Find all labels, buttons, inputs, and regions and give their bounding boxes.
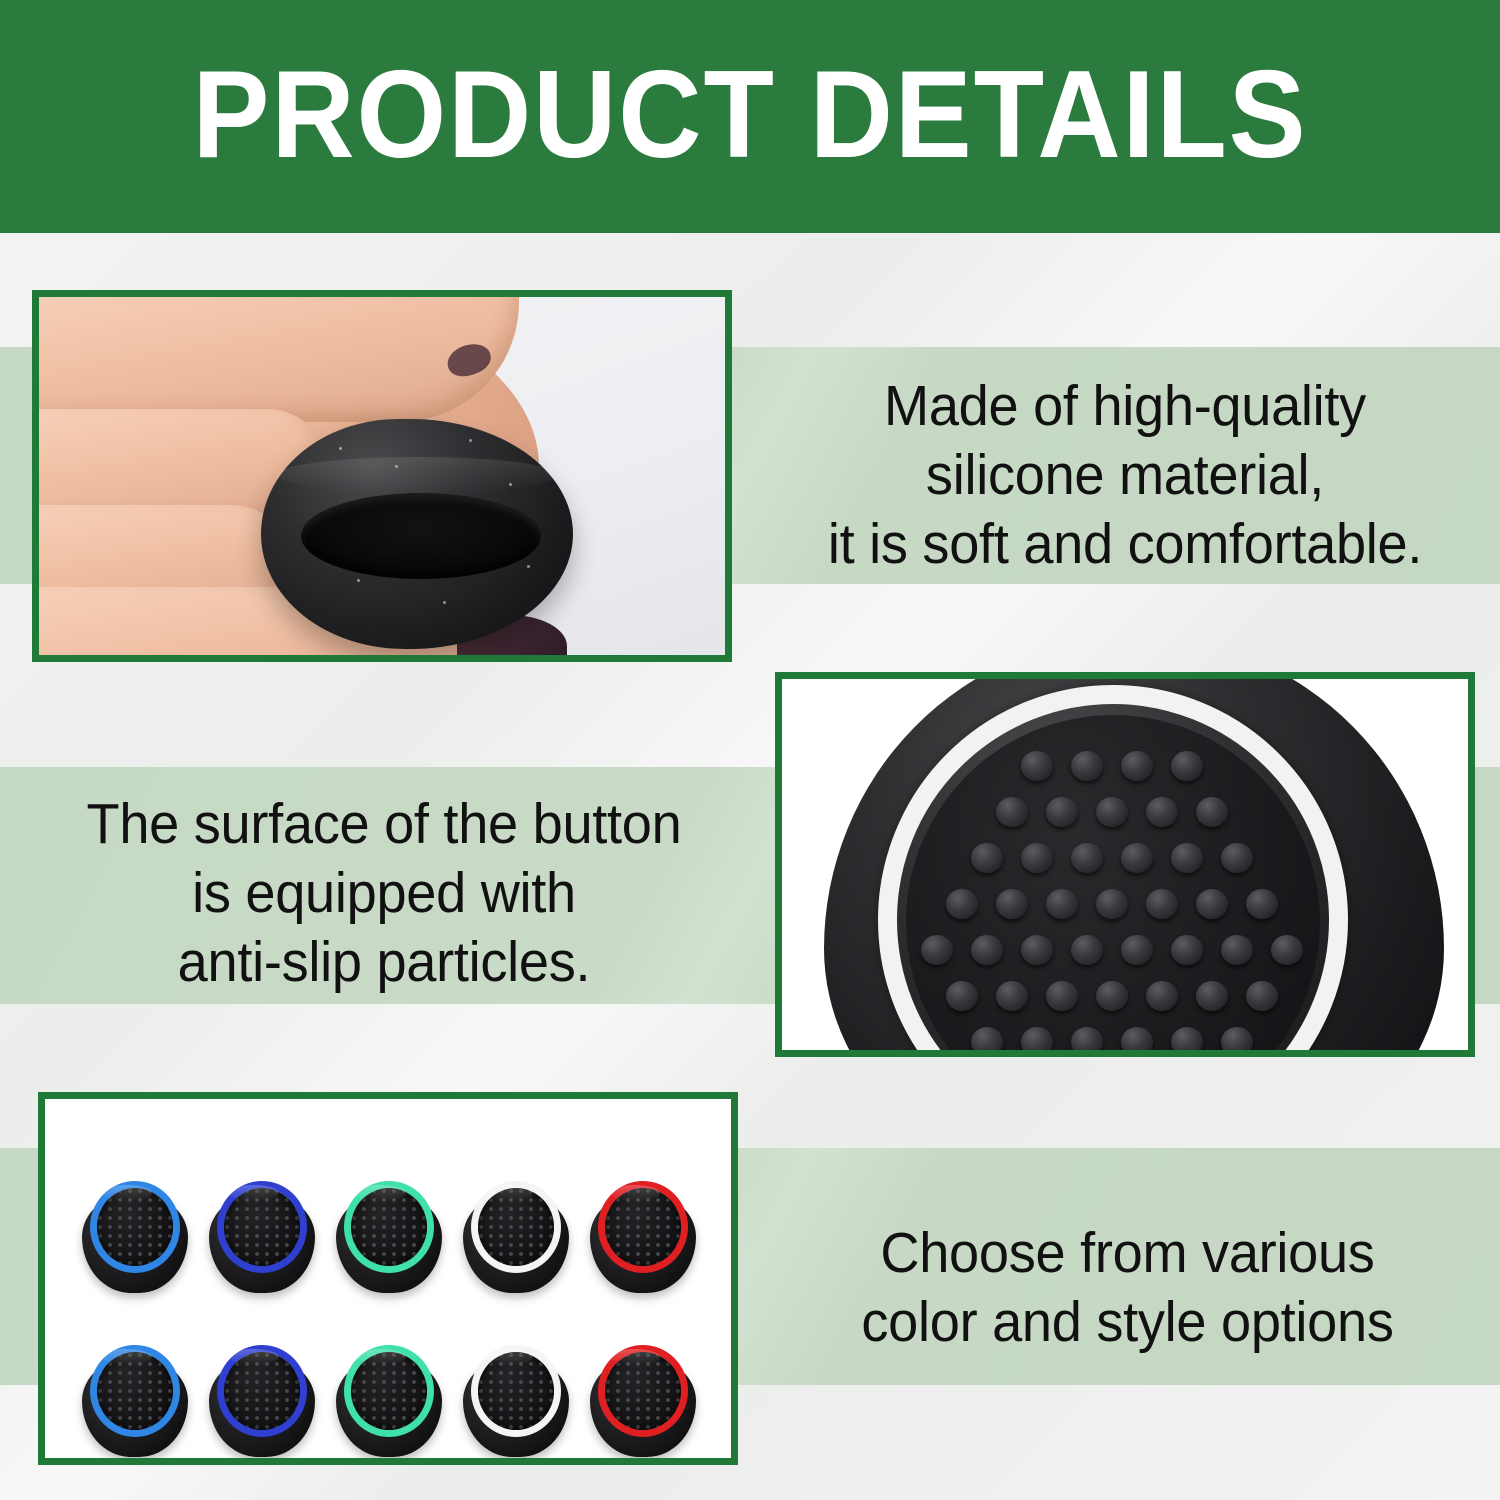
color-variant-grid — [71, 1177, 707, 1461]
grip-speck — [443, 601, 446, 604]
photo-anti-slip-macro — [782, 679, 1468, 1050]
anti-slip-dot — [1221, 843, 1253, 873]
thumb-grip-mint-green — [330, 1177, 448, 1297]
anti-slip-dot — [996, 981, 1028, 1011]
anti-slip-dot — [1146, 797, 1178, 827]
grip-highlight — [229, 1349, 279, 1365]
grip-speck — [509, 483, 512, 486]
anti-slip-dot — [1171, 935, 1203, 965]
grip-highlight — [102, 1349, 152, 1365]
caption-anti-slip: The surface of the button is equipped wi… — [19, 790, 749, 997]
grip-highlight — [102, 1185, 152, 1201]
anti-slip-dot — [1021, 843, 1053, 873]
anti-slip-dot — [1121, 751, 1153, 781]
anti-slip-dot — [1196, 797, 1228, 827]
anti-slip-dot — [1096, 981, 1128, 1011]
anti-slip-dot — [1021, 1027, 1053, 1057]
caption-color-options: Choose from various color and style opti… — [778, 1219, 1476, 1357]
grip-inner-cavity — [301, 493, 541, 579]
thumb-grip-white — [457, 1341, 575, 1461]
anti-slip-dot — [1071, 1027, 1103, 1057]
grip-highlight — [483, 1185, 533, 1201]
anti-slip-dot — [1246, 889, 1278, 919]
caption-material: Made of high-quality silicone material, … — [774, 372, 1477, 579]
grip-highlight — [229, 1185, 279, 1201]
anti-slip-dot — [996, 797, 1028, 827]
page-title: PRODUCT DETAILS — [53, 53, 1448, 177]
finger-top — [32, 290, 519, 422]
anti-slip-dot — [1021, 751, 1053, 781]
anti-slip-dot — [971, 935, 1003, 965]
thumb-grip-light-blue — [76, 1341, 194, 1461]
anti-slip-dot — [1071, 751, 1103, 781]
grip-speck — [339, 447, 342, 450]
anti-slip-dot — [1046, 889, 1078, 919]
anti-slip-dot — [1221, 1027, 1253, 1057]
grip-speck — [527, 565, 530, 568]
anti-slip-dot — [971, 843, 1003, 873]
anti-slip-dot — [1221, 935, 1253, 965]
anti-slip-dot — [1046, 797, 1078, 827]
thumb-grip-mint-green — [330, 1341, 448, 1461]
anti-slip-dot — [1021, 935, 1053, 965]
anti-slip-dot — [1246, 981, 1278, 1011]
anti-slip-dot — [1121, 843, 1153, 873]
anti-slip-dot — [996, 889, 1028, 919]
grip-speck — [357, 579, 360, 582]
anti-slip-dot — [1046, 981, 1078, 1011]
thumb-grip-dark-blue — [203, 1177, 321, 1297]
thumb-grip-dark-blue — [203, 1341, 321, 1461]
photo-frame-anti-slip — [775, 672, 1475, 1057]
thumb-grip-light-blue — [76, 1177, 194, 1297]
grip-speck — [469, 439, 472, 442]
anti-slip-dot — [1121, 1027, 1153, 1057]
product-details-infographic: PRODUCT DETAILS Made of high-quality si — [0, 0, 1500, 1500]
anti-slip-dot — [1196, 981, 1228, 1011]
anti-slip-dot — [1171, 1027, 1203, 1057]
anti-slip-dot — [1146, 981, 1178, 1011]
anti-slip-dot — [946, 981, 978, 1011]
photo-frame-color-options — [38, 1092, 738, 1465]
anti-slip-dot — [921, 935, 953, 965]
anti-slip-dot — [1146, 889, 1178, 919]
thumb-grip-red — [584, 1177, 702, 1297]
anti-slip-dot — [1096, 889, 1128, 919]
grip-highlight — [356, 1185, 406, 1201]
thumb-grip-white — [457, 1177, 575, 1297]
anti-slip-dot — [1271, 935, 1303, 965]
anti-slip-dot — [1096, 797, 1128, 827]
photo-hand-holding-grip — [39, 297, 725, 655]
header-banner: PRODUCT DETAILS — [0, 0, 1500, 233]
anti-slip-dot — [1121, 935, 1153, 965]
anti-slip-dot — [1071, 843, 1103, 873]
anti-slip-dot — [971, 1027, 1003, 1057]
anti-slip-dot — [946, 889, 978, 919]
thumb-grip-red — [584, 1341, 702, 1461]
anti-slip-dot — [1171, 751, 1203, 781]
anti-slip-dot — [1196, 889, 1228, 919]
grip-ridge-highlight — [277, 457, 559, 493]
grip-speck — [395, 465, 398, 468]
anti-slip-dot — [1071, 935, 1103, 965]
photo-frame-material — [32, 290, 732, 662]
grip-highlight — [356, 1349, 406, 1365]
anti-slip-dot — [1171, 843, 1203, 873]
photo-color-variants — [45, 1099, 731, 1458]
grip-highlight — [483, 1349, 533, 1365]
